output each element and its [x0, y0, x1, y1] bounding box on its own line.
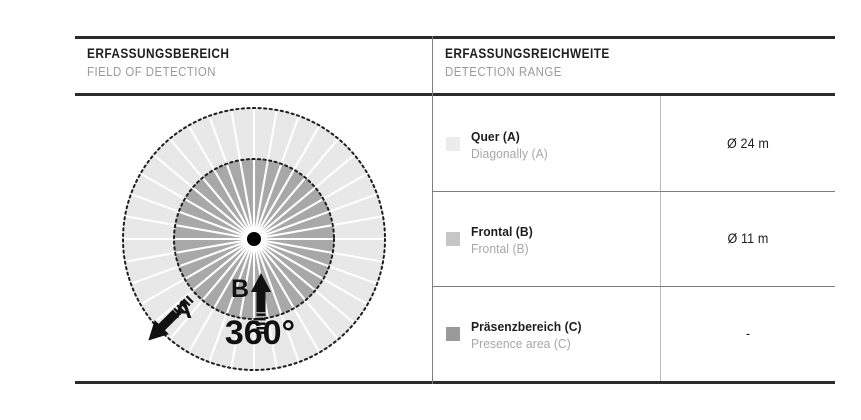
legend-label-en-frontal: Frontal (B) — [471, 241, 533, 257]
legend-row-praesenzbereich: Präsenzbereich (C) Presence area (C) - — [433, 286, 835, 381]
legend-label-en-praesenzbereich: Presence area (C) — [471, 336, 582, 352]
legend-swatch-frontal — [446, 232, 460, 246]
range-value-frontal: Ø 11 m — [667, 231, 829, 246]
row-divider — [433, 286, 835, 287]
legend-text-praesenzbereich: Präsenzbereich (C) Presence area (C) — [471, 319, 590, 352]
arrow-a-label: A — [174, 296, 192, 324]
detection-spec-table: ERFASSUNGSBEREICH FIELD OF DETECTION ERF… — [0, 0, 861, 420]
header-left-title-de: ERFASSUNGSBEREICH — [87, 46, 229, 61]
legend-label-de-praesenzbereich: Präsenzbereich (C) — [471, 319, 582, 335]
legend-label-de-frontal: Frontal (B) — [471, 224, 533, 240]
legend-swatch-praesenzbereich — [446, 327, 460, 341]
table-frame: ERFASSUNGSBEREICH FIELD OF DETECTION ERF… — [75, 36, 835, 384]
header-field-of-detection: ERFASSUNGSBEREICH FIELD OF DETECTION — [87, 46, 249, 79]
range-value-quer: Ø 24 m — [667, 136, 829, 151]
header-left-title-en: FIELD OF DETECTION — [87, 64, 229, 79]
arrow-b-label: B — [231, 275, 249, 303]
sensor-center-dot — [247, 232, 261, 246]
header-right-title-de: ERFASSUNGSREICHWEITE — [445, 46, 610, 61]
legend-label-en-quer: Diagonally (A) — [471, 146, 548, 162]
legend-swatch-quer — [446, 137, 460, 151]
legend-text-frontal: Frontal (B) Frontal (B) — [471, 224, 537, 257]
detection-range-legend: Quer (A) Diagonally (A) Ø 24 m Frontal (… — [433, 96, 835, 381]
legend-text-quer: Quer (A) Diagonally (A) — [471, 129, 554, 162]
table-top-rule — [75, 36, 835, 39]
field-of-detection-diagram: B A 360° — [109, 94, 399, 384]
header-detection-range: ERFASSUNGSREICHWEITE DETECTION RANGE — [445, 46, 632, 79]
legend-row-quer: Quer (A) Diagonally (A) Ø 24 m — [433, 96, 835, 191]
range-value-praesenzbereich: - — [667, 326, 829, 341]
diagram-cell: B A 360° — [75, 96, 432, 381]
angle-coverage-label: 360° — [225, 314, 295, 352]
legend-row-frontal: Frontal (B) Frontal (B) Ø 11 m — [433, 191, 835, 286]
row-divider — [433, 191, 835, 192]
header-right-title-en: DETECTION RANGE — [445, 64, 610, 79]
legend-label-de-quer: Quer (A) — [471, 129, 548, 145]
